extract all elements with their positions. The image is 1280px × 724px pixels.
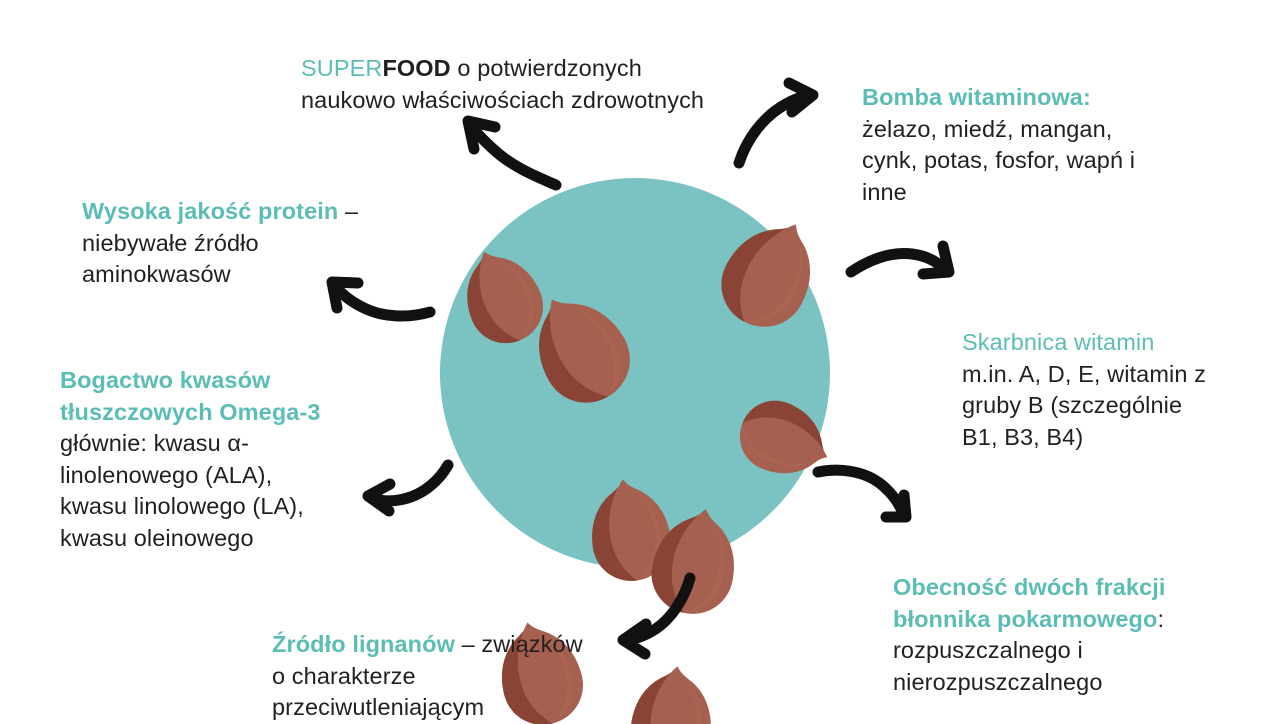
callout-superfood-emphasis: FOOD — [382, 55, 450, 81]
callout-skarbnica-highlight: Skarbnica witamin — [962, 329, 1154, 355]
arrow-to-bomba — [739, 83, 813, 163]
arrow-to-skarbnica — [851, 246, 949, 274]
callout-omega-3: Bogactwo kwasów tłuszczowych Omega-3 głó… — [60, 334, 332, 554]
seed-illustration — [440, 178, 830, 568]
seed — [627, 662, 717, 724]
callout-bomba-witaminowa: Bomba witaminowa: żelazo, miedź, mangan,… — [862, 51, 1162, 208]
callout-wysoka-jakosc-protein: Wysoka jakość protein – niebywałe źródło… — [82, 165, 372, 291]
callout-skarbnica-witamin: Skarbnica witamin m.in. A, D, E, witamin… — [962, 296, 1224, 453]
callout-superfood: SUPERFOOD o potwierdzonych naukowo właśc… — [301, 22, 721, 116]
callout-blonnik-highlight: Obecność dwóch frakcji błonnika pokarmow… — [893, 574, 1166, 631]
callout-omega-highlight: Bogactwo kwasów tłuszczowych Omega-3 — [60, 367, 321, 424]
callout-zrodlo-lignanow: Źródło lignanów – związków o charakterze… — [272, 598, 602, 724]
arrow-to-superfood — [468, 121, 556, 185]
arrow-to-omega — [368, 465, 448, 511]
callout-bomba-highlight: Bomba witaminowa: — [862, 84, 1091, 110]
callout-blonnik-suffix: : — [1157, 606, 1164, 632]
arrow-to-blonnik — [818, 470, 906, 517]
callout-superfood-highlight: SUPER — [301, 55, 382, 81]
callout-bomba-body: żelazo, miedź, mangan, cynk, potas, fosf… — [862, 116, 1135, 205]
callout-blonnik-pokarmowy: Obecność dwóch frakcji błonnika pokarmow… — [893, 541, 1193, 698]
callout-omega-body: głównie: kwasu α-linolenowego (ALA), kwa… — [60, 430, 304, 550]
callout-lignany-highlight: Źródło lignanów — [272, 631, 455, 657]
callout-skarbnica-body: m.in. A, D, E, witamin z gruby B (szczeg… — [962, 361, 1206, 450]
infographic-canvas: SUPERFOOD o potwierdzonych naukowo właśc… — [0, 0, 1280, 720]
callout-blonnik-body: rozpuszczalnego i nierozpuszczalnego — [893, 637, 1103, 694]
callout-protein-highlight: Wysoka jakość protein — [82, 198, 338, 224]
